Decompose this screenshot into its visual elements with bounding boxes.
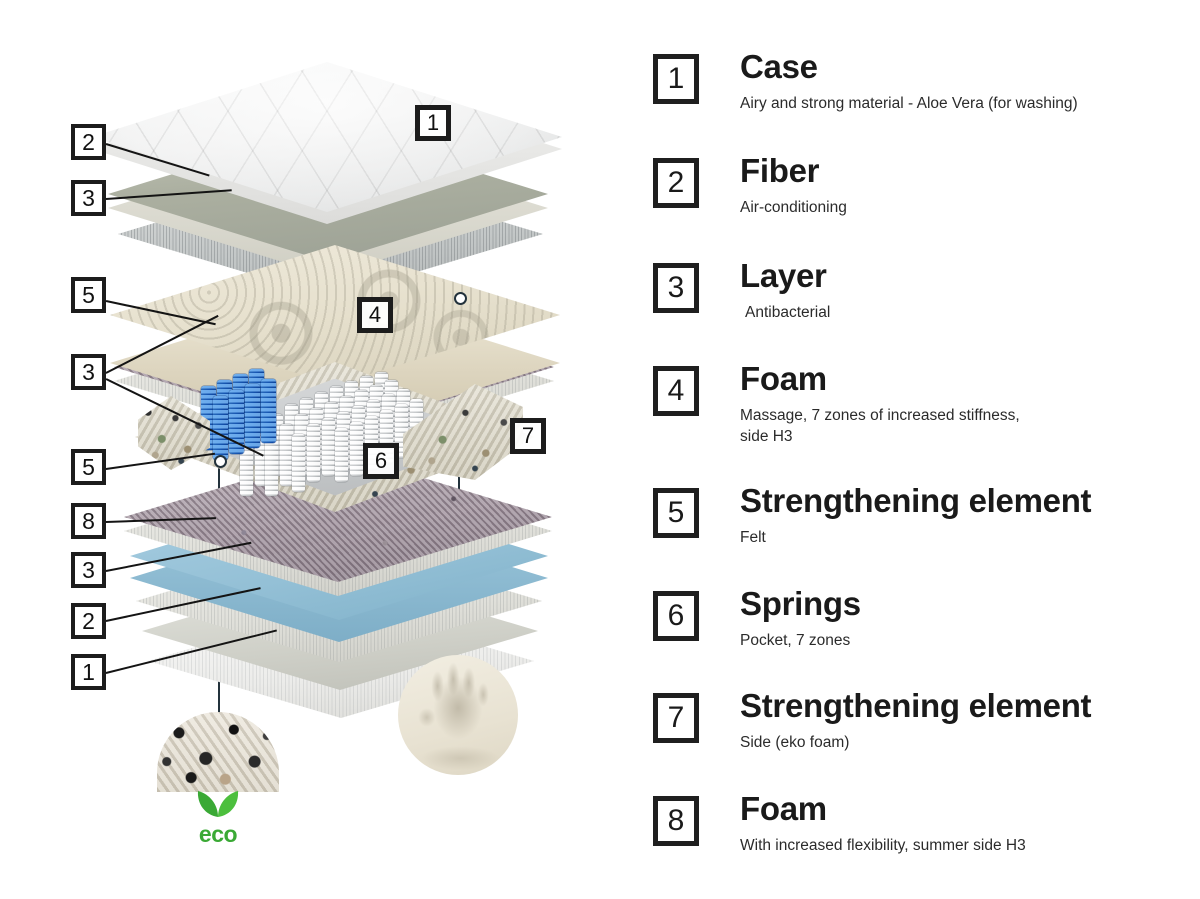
detail-circle-ecofoam-sample [157, 712, 279, 792]
legend-title-case: Case [740, 50, 1180, 85]
legend-title-layer: Layer [740, 259, 1180, 294]
mattress-layer-infographic: 2 3 5 3 5 8 3 2 1 1 4 7 6 eco 1 [0, 0, 1200, 899]
legend-desc-strengthening-felt: Felt [740, 528, 1180, 549]
callout-3-layer-mid[interactable]: 3 [71, 354, 106, 390]
spring-unit-reinforced [213, 396, 228, 460]
detail-anchor-eco-dot [214, 455, 227, 468]
callout-5-felt-upper[interactable]: 5 [71, 277, 106, 313]
legend-desc-strengthening-side: Side (eko foam) [740, 733, 1180, 754]
legend-list: 1 Case Airy and strong material - Aloe V… [650, 46, 1180, 866]
legend-title-strengthening-side: Strengthening element [740, 689, 1180, 724]
eco-badge: eco [168, 788, 268, 846]
callout-2-fiber-lower[interactable]: 2 [71, 603, 106, 639]
legend-number-3: 3 [653, 263, 699, 313]
legend-desc-layer: Antibacterial [740, 303, 1180, 324]
callout-8-blue-foam[interactable]: 8 [71, 503, 106, 539]
callout-1-case-top[interactable]: 1 [415, 105, 451, 141]
legend-number-6: 6 [653, 591, 699, 641]
spring-unit [322, 418, 335, 476]
legend-number-5: 5 [653, 488, 699, 538]
mattress-exploded-diagram: 2 3 5 3 5 8 3 2 1 1 4 7 6 eco [0, 0, 640, 899]
layer-case-quilted-cover [92, 62, 562, 212]
legend-desc-springs: Pocket, 7 zones [740, 631, 1180, 652]
spring-unit [292, 434, 305, 492]
legend-title-foam-flexible: Foam [740, 792, 1180, 827]
callout-1-case-bottom[interactable]: 1 [71, 654, 106, 690]
legend-title-strengthening-felt: Strengthening element [740, 484, 1180, 519]
callout-3-layer-upper[interactable]: 3 [71, 180, 106, 216]
legend-desc-case: Airy and strong material - Aloe Vera (fo… [740, 94, 1180, 115]
detail-circle-foam-imprint [398, 655, 518, 775]
callout-7-ecofoam-side[interactable]: 7 [510, 418, 546, 454]
legend-desc-fiber: Air-conditioning [740, 198, 1180, 219]
legend-desc-foam-flexible: With increased flexibility, summer side … [740, 836, 1180, 857]
spring-unit [265, 434, 278, 496]
legend-number-2: 2 [653, 158, 699, 208]
leaf-icon [195, 788, 241, 818]
spring-unit [307, 424, 320, 482]
legend-number-1: 1 [653, 54, 699, 104]
legend-number-8: 8 [653, 796, 699, 846]
spring-unit [335, 428, 348, 482]
callout-5-felt-lower[interactable]: 5 [71, 449, 106, 485]
legend-title-foam-massage: Foam [740, 362, 1180, 397]
callout-2-fiber[interactable]: 2 [71, 124, 106, 160]
legend-title-fiber: Fiber [740, 154, 1180, 189]
legend-number-7: 7 [653, 693, 699, 743]
spring-block [135, 362, 535, 512]
eco-label: eco [168, 823, 268, 846]
spring-unit [350, 422, 363, 476]
legend-number-4: 4 [653, 366, 699, 416]
callout-6-springs[interactable]: 6 [363, 443, 399, 479]
spring-unit-reinforced [245, 384, 260, 448]
callout-4-massage-foam[interactable]: 4 [357, 297, 393, 333]
legend-desc-foam-massage: Massage, 7 zones of increased stiffness,… [740, 406, 1180, 448]
detail-anchor-foam-dot [454, 292, 467, 305]
spring-unit-reinforced [261, 379, 276, 443]
callout-3-layer-lower[interactable]: 3 [71, 552, 106, 588]
legend-title-springs: Springs [740, 587, 1180, 622]
